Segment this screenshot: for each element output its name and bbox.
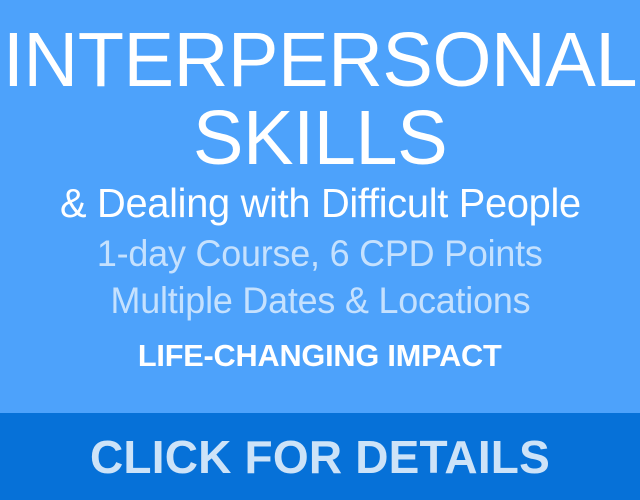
cta-button-label: CLICK FOR DETAILS bbox=[90, 433, 550, 481]
headline-primary: INTERPERSONAL bbox=[3, 21, 637, 99]
cta-button[interactable]: CLICK FOR DETAILS bbox=[0, 413, 640, 500]
headline-secondary: SKILLS bbox=[193, 99, 447, 177]
advertisement-banner[interactable]: INTERPERSONAL SKILLS & Dealing with Diff… bbox=[0, 0, 640, 500]
course-detail-dates: Multiple Dates & Locations bbox=[110, 277, 530, 324]
promo-content-area: INTERPERSONAL SKILLS & Dealing with Diff… bbox=[0, 0, 640, 413]
course-detail-duration: 1-day Course, 6 CPD Points bbox=[97, 230, 543, 277]
subheadline: & Dealing with Difficult People bbox=[60, 180, 581, 226]
impact-statement: LIFE-CHANGING IMPACT bbox=[138, 339, 502, 373]
